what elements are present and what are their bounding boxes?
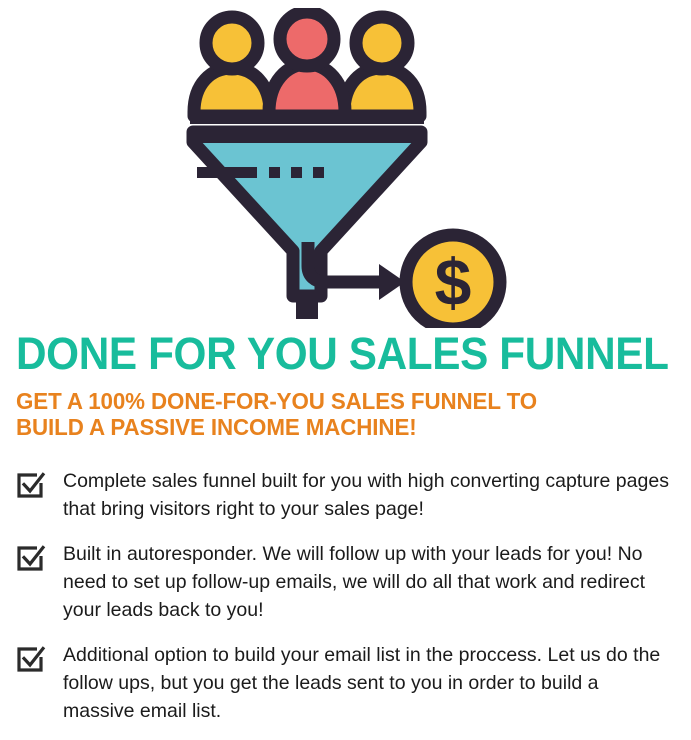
checkbox-checked-icon (16, 644, 46, 674)
page-subtitle-line-2: BUILD A PASSIVE INCOME MACHINE! (16, 415, 644, 441)
feature-list: Complete sales funnel built for you with… (0, 467, 691, 725)
dollar-sign-label: $ (434, 245, 471, 319)
checkbox-checked-icon (16, 470, 46, 500)
list-item-label: Complete sales funnel built for you with… (63, 467, 671, 523)
people-base-bar (190, 112, 424, 124)
checkbox-checked-icon (16, 543, 46, 573)
funnel-drop (296, 301, 318, 319)
funnel-dot-2 (291, 167, 302, 178)
page-subtitle-line-1: GET A 100% DONE-FOR-YOU SALES FUNNEL TO (16, 389, 644, 415)
dollar-coin-icon: $ (406, 235, 500, 328)
funnel-dot-1 (269, 167, 280, 178)
funnel-dot-3 (313, 167, 324, 178)
person-left-yellow-icon (194, 17, 270, 116)
funnel-dash-long (197, 167, 257, 178)
headline-block: DONE FOR YOU SALES FUNNEL GET A 100% DON… (0, 330, 691, 440)
sales-funnel-icon: $ (181, 8, 511, 328)
person-center-red-icon (269, 12, 345, 116)
page-title: DONE FOR YOU SALES FUNNEL (16, 330, 637, 378)
list-item-label: Built in autoresponder. We will follow u… (63, 540, 671, 624)
promo-page: $ DONE FOR YOU SALES FUNNEL GET A 100% D… (0, 0, 691, 740)
person-right-yellow-icon (344, 17, 420, 116)
page-subtitle: GET A 100% DONE-FOR-YOU SALES FUNNEL TO … (16, 389, 644, 440)
list-item: Complete sales funnel built for you with… (16, 467, 675, 523)
list-item: Additional option to build your email li… (16, 641, 675, 725)
list-item: Built in autoresponder. We will follow u… (16, 540, 675, 624)
list-item-label: Additional option to build your email li… (63, 641, 671, 725)
hero-illustration: $ (0, 0, 691, 330)
